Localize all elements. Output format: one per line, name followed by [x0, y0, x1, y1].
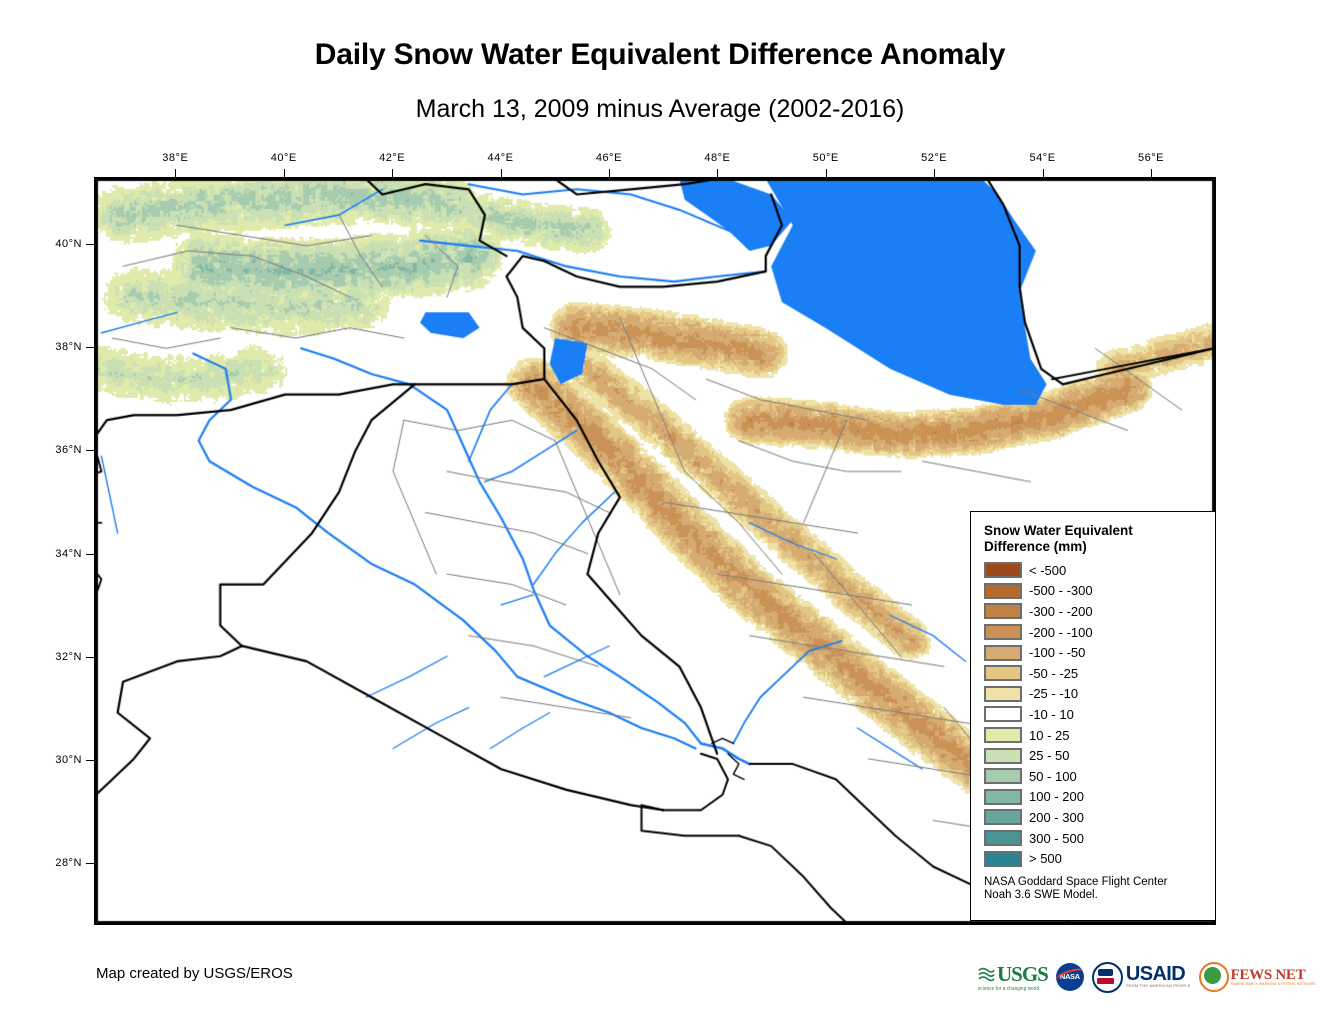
longitude-tick — [609, 169, 610, 177]
legend-source: NASA Goddard Space Flight Center Noah 3.… — [984, 876, 1215, 903]
longitude-label: 50°E — [813, 152, 839, 164]
legend-label: 25 - 50 — [1029, 748, 1069, 763]
legend-title-line1: Snow Water Equivalent — [984, 523, 1215, 539]
legend-label: -10 - 10 — [1029, 707, 1074, 722]
legend-title: Snow Water Equivalent Difference (mm) — [984, 523, 1215, 555]
fewsnet-tagline: FAMINE EARLY WARNING SYSTEMS NETWORK — [1231, 982, 1316, 986]
legend-swatch — [984, 562, 1022, 578]
legend-row: < -500 — [984, 560, 1215, 581]
legend-row: -50 - -25 — [984, 663, 1215, 684]
legend-class-list: < -500-500 - -300-300 - -200-200 - -100-… — [984, 560, 1215, 869]
usgs-wordmark: USGS — [997, 965, 1048, 984]
latitude-tick — [86, 347, 94, 348]
latitude-tick — [86, 863, 94, 864]
legend-source-line1: NASA Goddard Space Flight Center — [984, 876, 1215, 890]
legend-swatch — [984, 748, 1022, 764]
legend-label: -200 - -100 — [1029, 625, 1093, 640]
legend-label: -25 - -10 — [1029, 686, 1078, 701]
longitude-label: 52°E — [921, 152, 947, 164]
longitude-tick — [826, 169, 827, 177]
legend-source-line2: Noah 3.6 SWE Model. — [984, 889, 1215, 903]
longitude-label: 44°E — [488, 152, 514, 164]
page-subtitle: March 13, 2009 minus Average (2002-2016) — [0, 95, 1320, 124]
map-legend: Snow Water Equivalent Difference (mm) < … — [970, 511, 1216, 921]
legend-swatch — [984, 624, 1022, 640]
longitude-label: 56°E — [1138, 152, 1164, 164]
longitude-tick — [1151, 169, 1152, 177]
longitude-label: 40°E — [271, 152, 297, 164]
legend-label: 300 - 500 — [1029, 831, 1084, 846]
fewsnet-wordmark: FEWS NET — [1231, 968, 1316, 982]
usgs-logo: USGS science for a changing world — [978, 958, 1048, 996]
legend-swatch — [984, 830, 1022, 846]
legend-row: 50 - 100 — [984, 766, 1215, 787]
legend-label: < -500 — [1029, 563, 1066, 578]
longitude-label: 38°E — [162, 152, 188, 164]
legend-row: -100 - -50 — [984, 642, 1215, 663]
legend-label: -500 - -300 — [1029, 583, 1093, 598]
usgs-wave-icon — [978, 966, 995, 983]
legend-title-line2: Difference (mm) — [984, 539, 1215, 555]
legend-row: -10 - 10 — [984, 704, 1215, 725]
longitude-label: 46°E — [596, 152, 622, 164]
legend-row: 25 - 50 — [984, 745, 1215, 766]
legend-label: 10 - 25 — [1029, 728, 1069, 743]
legend-row: -300 - -200 — [984, 601, 1215, 622]
latitude-label: 34°N — [55, 548, 82, 560]
legend-row: -200 - -100 — [984, 622, 1215, 643]
longitude-tick — [1043, 169, 1044, 177]
legend-swatch — [984, 727, 1022, 743]
legend-swatch — [984, 686, 1022, 702]
legend-row: 10 - 25 — [984, 725, 1215, 746]
latitude-tick — [86, 657, 94, 658]
latitude-label: 30°N — [55, 754, 82, 766]
longitude-tick — [175, 169, 176, 177]
nasa-swoosh-icon — [1056, 965, 1084, 989]
longitude-label: 48°E — [704, 152, 730, 164]
nasa-logo: NASA — [1056, 958, 1084, 996]
usaid-logo: USAID FROM THE AMERICAN PEOPLE — [1092, 958, 1191, 996]
legend-swatch — [984, 851, 1022, 867]
legend-swatch — [984, 789, 1022, 805]
nasa-meatball-icon: NASA — [1056, 963, 1084, 991]
page-title: Daily Snow Water Equivalent Difference A… — [0, 38, 1320, 72]
legend-swatch — [984, 768, 1022, 784]
latitude-tick — [86, 554, 94, 555]
logo-strip: USGS science for a changing world NASA U… — [978, 957, 1316, 997]
usaid-wordmark: USAID — [1126, 966, 1191, 983]
latitude-label: 36°N — [55, 444, 82, 456]
usgs-tagline: science for a changing world — [978, 985, 1039, 991]
latitude-label: 38°N — [55, 341, 82, 353]
longitude-tick — [934, 169, 935, 177]
latitude-tick — [86, 450, 94, 451]
legend-swatch — [984, 809, 1022, 825]
longitude-tick — [284, 169, 285, 177]
legend-label: -300 - -200 — [1029, 604, 1093, 619]
latitude-tick — [86, 760, 94, 761]
legend-label: 50 - 100 — [1029, 769, 1077, 784]
longitude-label: 42°E — [379, 152, 405, 164]
legend-row: 300 - 500 — [984, 828, 1215, 849]
fewsnet-globe-icon — [1199, 962, 1229, 992]
legend-swatch — [984, 583, 1022, 599]
legend-row: 100 - 200 — [984, 787, 1215, 808]
legend-label: > 500 — [1029, 851, 1062, 866]
latitude-label: 40°N — [55, 238, 82, 250]
usaid-tagline: FROM THE AMERICAN PEOPLE — [1126, 983, 1191, 988]
legend-row: 200 - 300 — [984, 807, 1215, 828]
longitude-tick — [501, 169, 502, 177]
legend-swatch — [984, 665, 1022, 681]
legend-label: 200 - 300 — [1029, 810, 1084, 825]
longitude-label: 54°E — [1030, 152, 1056, 164]
legend-row: > 500 — [984, 848, 1215, 869]
usaid-seal-icon — [1092, 962, 1123, 993]
latitude-label: 32°N — [55, 651, 82, 663]
legend-swatch — [984, 706, 1022, 722]
longitude-tick — [717, 169, 718, 177]
legend-swatch — [984, 603, 1022, 619]
legend-label: -100 - -50 — [1029, 645, 1085, 660]
legend-row: -25 - -10 — [984, 684, 1215, 705]
legend-label: -50 - -25 — [1029, 666, 1078, 681]
legend-row: -500 - -300 — [984, 581, 1215, 602]
legend-swatch — [984, 645, 1022, 661]
longitude-tick — [392, 169, 393, 177]
fewsnet-logo: FEWS NET FAMINE EARLY WARNING SYSTEMS NE… — [1199, 958, 1316, 996]
map-credit: Map created by USGS/EROS — [96, 965, 293, 982]
legend-label: 100 - 200 — [1029, 789, 1084, 804]
latitude-tick — [86, 244, 94, 245]
latitude-label: 28°N — [55, 857, 82, 869]
